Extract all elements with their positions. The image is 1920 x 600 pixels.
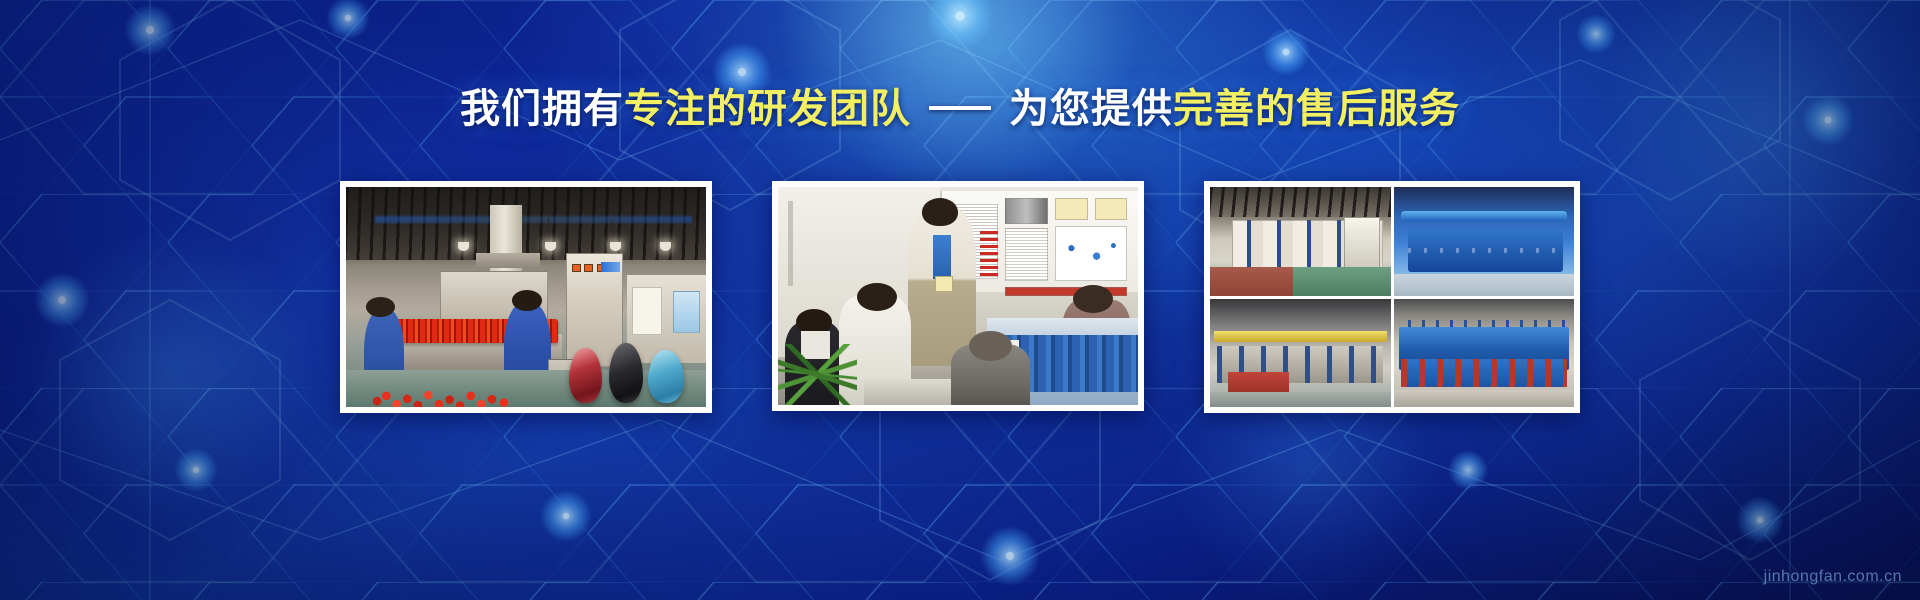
factory-ceiling	[346, 187, 706, 260]
certificate-2	[1095, 198, 1127, 220]
id-badge	[935, 276, 953, 291]
headline-part1-highlight: 专注的研发团队	[624, 87, 911, 131]
certificate-1	[1055, 198, 1087, 220]
headline-part2-highlight: 完善的售后服务	[1173, 87, 1460, 131]
presenter-head	[922, 198, 958, 226]
site-watermark: jinhongfan.com.cn	[1764, 568, 1902, 586]
headline-part2-plain: 为您提供	[1009, 87, 1173, 131]
diagram-poster	[1055, 226, 1127, 281]
headline-dash-icon	[929, 106, 991, 110]
collage-hanging-rack-line	[1394, 299, 1575, 408]
promo-banner: 我们拥有专注的研发团队为您提供完善的售后服务	[0, 0, 1920, 600]
duct	[476, 253, 541, 268]
poster-red-marks	[980, 231, 998, 279]
wall-poster-photo	[1005, 198, 1048, 224]
gallery-card-equipment-collage[interactable]	[1204, 181, 1580, 413]
photo-equipment-collage	[1210, 187, 1574, 407]
banner-headline: 我们拥有专注的研发团队为您提供完善的售后服务	[0, 86, 1920, 132]
lanyard	[933, 235, 951, 279]
worker-left-head	[366, 297, 395, 317]
foreground-plant	[778, 344, 857, 405]
collage-workshop-machines	[1210, 187, 1391, 296]
headline-part1-plain: 我们拥有	[460, 87, 624, 131]
gallery-card-team-meeting[interactable]	[772, 181, 1144, 411]
photo-team-meeting	[778, 187, 1138, 405]
cabinet-label	[601, 262, 620, 272]
attendee-center-head	[857, 283, 897, 311]
vase-black	[609, 343, 643, 402]
collage-blue-curing-oven	[1394, 187, 1575, 296]
photo-production-line	[346, 187, 706, 407]
gallery-card-production-line[interactable]	[340, 181, 712, 413]
red-product-pile	[368, 370, 519, 407]
wall-poster-text-2	[1005, 228, 1048, 280]
attendee-right-head	[1073, 285, 1113, 313]
photo-gallery	[0, 181, 1920, 413]
collage-conveyor-rails	[1210, 299, 1391, 408]
vase-red	[569, 348, 601, 403]
